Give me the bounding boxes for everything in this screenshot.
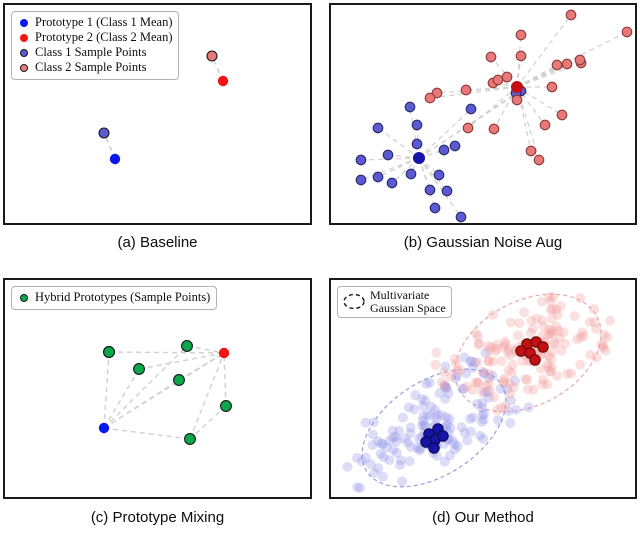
scatter-point [383,150,393,160]
scatter-point [463,123,473,133]
caption-panel-d: (d) Our Method [329,509,637,526]
scatter-point [356,175,366,185]
scatter-point [356,155,366,165]
cloud-point [513,330,523,340]
cloud-point [505,418,515,428]
legend-item-label: Prototype 2 (Class 2 Mean) [35,30,172,45]
cloud-point [473,331,483,341]
mixing-link [190,353,224,439]
mixing-link [104,346,187,428]
noise-spoke [410,107,419,158]
legend-baseline: Prototype 1 (Class 1 Mean)Prototype 2 (C… [11,11,179,80]
scatter-point [425,185,435,195]
scatter-point [512,95,522,105]
cloud-point [342,462,352,472]
cloud-point [439,381,449,391]
scatter-point [99,423,109,433]
core-sample-point [538,342,548,352]
cloud-point [432,414,442,424]
cloud-point [605,316,615,326]
cloud-point [466,427,476,437]
caption-panel-c: (c) Prototype Mixing [3,509,312,526]
scatter-point [575,55,585,65]
cloud-point [420,420,430,430]
legend-item-label: Class 2 Sample Points [35,60,146,75]
cloud-point [601,345,611,355]
legend-item: Class 1 Sample Points [17,45,172,60]
cloud-point [459,352,469,362]
scatter-point [110,154,120,164]
scatter-point [516,51,526,61]
scatter-point [434,170,444,180]
legend-prototype-mixing: Hybrid Prototypes (Sample Points) [11,286,217,310]
cloud-point [379,452,389,462]
scatter-point [552,60,562,70]
core-sample-point [438,431,448,441]
scatter-point [566,10,576,20]
cloud-point [397,476,407,486]
scatter-plot-prototype-mixing [5,280,310,497]
cloud-point [425,378,435,388]
scatter-point [461,85,471,95]
cloud-point [418,401,428,411]
cloud-point [462,382,472,392]
cloud-point [526,328,536,338]
cloud-point [575,360,585,370]
cloud-point [523,384,533,394]
legend-label-line2: Gaussian Space [370,302,446,315]
legend-item-label: Class 1 Sample Points [35,45,146,60]
scatter-point [207,51,217,61]
cloud-point [478,434,488,444]
scatter-point [387,178,397,188]
scatter-point [557,110,567,120]
scatter-point [134,364,145,375]
scatter-point [456,212,466,222]
cloud-point [511,405,521,415]
core-sample-point [530,355,540,365]
scatter-point [516,30,526,40]
edged-circle-icon [17,294,31,302]
caption-panel-b: (b) Gaussian Noise Aug [329,234,637,251]
scatter-point [540,120,550,130]
cloud-point [559,327,569,337]
scatter-point [412,120,422,130]
scatter-point [622,27,632,37]
scatter-point [502,72,512,82]
scatter-point [493,75,503,85]
cloud-point [575,293,585,303]
scatter-point [526,146,536,156]
cloud-point [392,436,402,446]
cloud-point [499,374,509,384]
scatter-point [439,145,449,155]
scatter-point [534,155,544,165]
cloud-point [472,357,482,367]
scatter-point [562,59,572,69]
figure-root: Prototype 1 (Class 1 Mean)Prototype 2 (C… [0,0,640,540]
caption-panel-a: (a) Baseline [3,234,312,251]
legend-item: Prototype 2 (Class 2 Mean) [17,30,172,45]
legend-item: Class 2 Sample Points [17,60,172,75]
cloud-point [442,419,452,429]
cloud-point [520,374,530,384]
cloud-point [477,398,487,408]
legend-label-line1: Multivariate [370,289,446,302]
core-sample-point [429,443,439,453]
scatter-point [99,128,109,138]
cloud-point [450,445,460,455]
scatter-point [373,172,383,182]
scatter-point [406,169,416,179]
cloud-point [468,413,478,423]
cloud-point [406,423,416,433]
scatter-point [489,124,499,134]
cloud-point [479,415,489,425]
panel-gaussian-noise-aug [329,3,637,225]
mixing-link [190,406,226,439]
cloud-point [546,367,556,377]
cloud-point [355,483,365,493]
cloud-point [544,292,554,302]
filled-circle-icon [17,19,31,27]
dashed-ellipse-icon [341,292,367,311]
scatter-point [466,104,476,114]
cloud-point [450,354,460,364]
cloud-point [493,415,503,425]
cloud-point [405,456,415,466]
cloud-point [514,318,524,328]
cloud-point [546,305,556,315]
cloud-point [368,430,378,440]
noise-spoke [517,15,571,87]
cloud-point [518,356,528,366]
panel-our-method: Multivariate Gaussian Space [329,278,637,499]
scatter-point [486,52,496,62]
cloud-point [368,440,378,450]
scatter-plot-gaussian-noise-aug [331,5,635,223]
scatter-point [174,375,185,386]
mixing-link [104,428,190,439]
cloud-point [497,356,507,366]
scatter-point [182,341,193,352]
scatter-point [218,76,228,86]
edged-circle-icon [17,49,31,57]
cloud-point [352,453,362,463]
filled-circle-icon [17,34,31,42]
cloud-point [492,344,502,354]
scatter-point [442,186,452,196]
cloud-point [519,307,529,317]
mixing-link [109,352,224,353]
scatter-point [219,348,229,358]
scatter-point [547,82,557,92]
cloud-point [505,350,515,360]
cloud-point [440,457,450,467]
cloud-point [576,332,586,342]
cloud-point [485,385,495,395]
legend-our-method: Multivariate Gaussian Space [337,286,452,318]
mixing-link [104,369,139,428]
mixing-link [224,353,226,406]
scatter-point [450,141,460,151]
cloud-point [361,453,371,463]
cloud-point [369,417,379,427]
prototype-hub [414,153,425,164]
legend-item-label: Hybrid Prototypes (Sample Points) [35,290,210,305]
cloud-point [452,365,462,375]
panel-prototype-mixing: Hybrid Prototypes (Sample Points) [3,278,312,499]
scatter-point [221,401,232,412]
legend-item: Hybrid Prototypes (Sample Points) [17,290,210,305]
cloud-point [431,348,441,358]
scatter-point [405,102,415,112]
cloud-point [376,439,386,449]
scatter-point [104,347,115,358]
cloud-point [506,317,516,327]
scatter-point [373,123,383,133]
cloud-point [570,311,580,321]
panel-baseline: Prototype 1 (Class 1 Mean)Prototype 2 (C… [3,3,312,225]
scatter-point [430,203,440,213]
cloud-point [492,405,502,415]
cloud-point [562,369,572,379]
cloud-point [484,357,494,367]
scatter-point [425,93,435,103]
cloud-point [602,332,612,342]
cloud-point [398,413,408,423]
cloud-point [488,310,498,320]
cloud-point [524,402,534,412]
cloud-point [378,472,388,482]
cloud-point [591,324,601,334]
prototype-hub [512,82,523,93]
cloud-point [505,389,515,399]
legend-item: Prototype 1 (Class 1 Mean) [17,15,172,30]
cloud-point [538,375,548,385]
cloud-point [462,436,472,446]
cloud-point [526,316,536,326]
scatter-point [185,434,196,445]
cloud-point [585,350,595,360]
mixing-link [104,352,109,428]
edged-circle-icon [17,64,31,72]
cloud-point [431,360,441,370]
legend-item-label: Prototype 1 (Class 1 Mean) [35,15,172,30]
cloud-point [485,369,495,379]
cloud-point [409,404,419,414]
cloud-point [396,455,406,465]
cloud-point [500,337,510,347]
scatter-point [412,139,422,149]
cloud-point [589,304,599,314]
